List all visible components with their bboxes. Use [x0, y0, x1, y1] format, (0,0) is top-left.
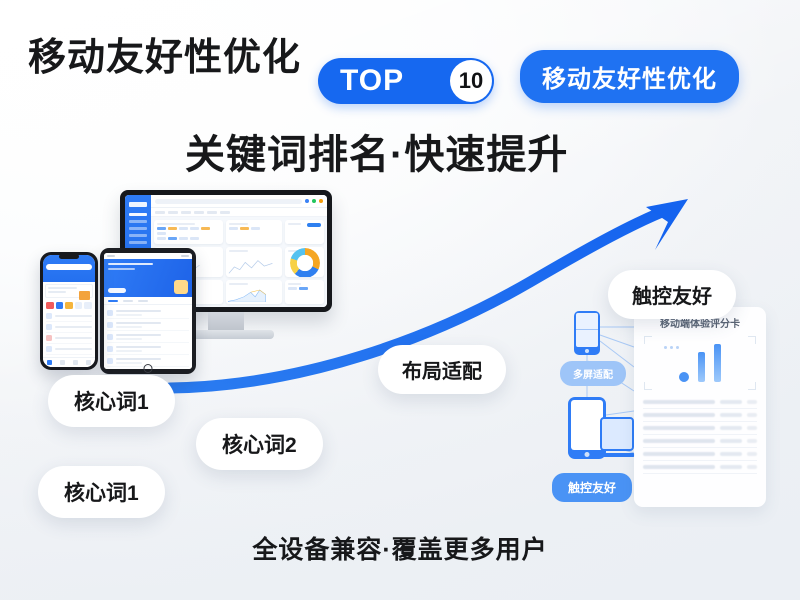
score-row	[643, 422, 757, 435]
dashboard-card	[285, 280, 324, 304]
dashboard-donut-card	[285, 247, 324, 276]
dashboard-card	[154, 220, 223, 244]
tablet-screen	[104, 253, 192, 369]
list-item	[46, 333, 92, 344]
list-item	[107, 331, 189, 343]
list-item	[107, 343, 189, 355]
top-rank-badge: TOP 10	[318, 58, 494, 104]
score-row	[643, 396, 757, 409]
sidebar-nav-item	[129, 227, 147, 230]
phone-header	[43, 255, 95, 282]
banner-image	[174, 280, 188, 294]
top-number: 10	[450, 60, 492, 102]
tablet-home-button	[144, 364, 153, 373]
monitor-stand-neck	[208, 312, 244, 330]
keyword-pill-2: 核心词2	[196, 418, 323, 470]
phone-search-bar	[46, 264, 92, 270]
sidebar-nav-item	[129, 241, 147, 244]
page-subtitle: 关键词排名·快速提升	[185, 122, 568, 180]
sidebar-nav-item	[129, 213, 147, 216]
keyword-pill-1: 核心词1	[48, 375, 175, 427]
header-tag-pill: 移动友好性优化	[520, 50, 739, 103]
top-label: TOP	[340, 66, 404, 96]
feature-pill-layout: 布局适配	[378, 345, 506, 394]
list-item	[46, 311, 92, 322]
list-item	[107, 319, 189, 331]
phone-tab-bar	[43, 357, 95, 367]
phone-quick-icons	[43, 300, 95, 311]
list-item	[46, 344, 92, 355]
phone-device	[40, 252, 98, 370]
tablet-list	[104, 305, 192, 369]
sidebar-nav-item	[129, 234, 147, 237]
score-card-chart	[643, 335, 757, 391]
diagram-pill-touch: 触控友好	[552, 473, 632, 502]
score-row	[643, 409, 757, 422]
banner-cta-button	[108, 288, 126, 293]
tablet-device	[100, 248, 196, 374]
feature-pill-touch: 触控友好	[608, 270, 736, 319]
tablet-tabs	[104, 297, 192, 305]
chart-marker	[679, 372, 689, 382]
diagram-small-phone-icon	[574, 311, 600, 355]
poster-canvas: 移动友好性优化 TOP 10 移动友好性优化 关键词排名·快速提升	[0, 0, 800, 600]
list-item	[46, 322, 92, 333]
phone-screen	[43, 255, 95, 367]
status-dot	[319, 199, 323, 203]
sidebar-nav-item	[129, 220, 147, 223]
mobile-experience-diagram: 多屏适配 触控友好 移动端体验评分卡	[548, 305, 770, 510]
dashboard-topbar	[151, 195, 327, 208]
keyword-pill-3: 核心词1	[38, 466, 165, 518]
breadcrumb	[151, 208, 327, 217]
dashboard-card	[226, 220, 282, 244]
chart-bars	[658, 340, 742, 382]
score-row	[643, 448, 757, 461]
score-row	[643, 461, 757, 474]
footer-tagline: 全设备兼容·覆盖更多用户	[0, 530, 800, 566]
dashboard-area-card	[226, 280, 282, 304]
phone-promo-card	[45, 284, 93, 298]
primary-button	[307, 223, 321, 227]
diagram-pill-multiscreen: 多屏适配	[560, 361, 626, 386]
page-title: 移动友好性优化	[28, 26, 301, 81]
phone-notch	[59, 254, 79, 259]
donut-chart	[290, 248, 320, 276]
score-row	[643, 435, 757, 448]
device-mockups	[22, 190, 332, 375]
search-input	[155, 199, 302, 204]
list-item	[107, 307, 189, 319]
diagram-laptop-icon	[600, 417, 634, 457]
dashboard-card	[285, 220, 324, 244]
dashboard-chart-card	[226, 247, 282, 276]
mobile-score-card: 移动端体验评分卡	[634, 307, 766, 507]
status-dot	[312, 199, 316, 203]
status-dot	[305, 199, 309, 203]
tablet-banner	[104, 259, 192, 297]
promo-thumbnail	[79, 291, 90, 300]
dashboard-logo	[129, 202, 147, 207]
